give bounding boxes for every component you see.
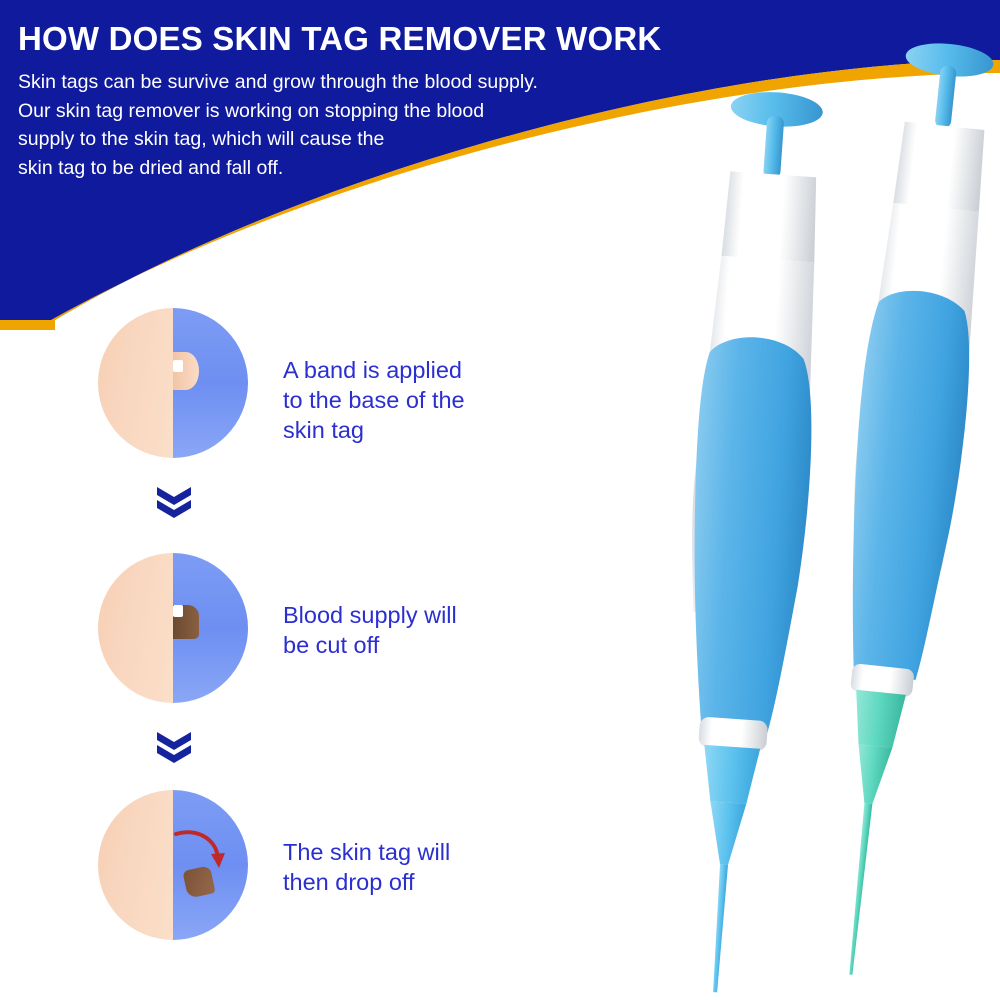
device-grip [832,286,978,682]
chevron-down-icon [155,730,193,770]
skin-half [98,790,173,940]
plunger-rod [934,65,956,128]
step-1-caption-line-1: A band is applied [283,356,465,386]
device-tip-base [700,745,760,805]
step-3-caption-line-2: then drop off [283,868,450,898]
removal-band [173,605,183,617]
step-2-illustration [98,553,248,703]
step-3-caption: The skin tag will then drop off [283,838,450,898]
chevron-down-icon [155,485,193,525]
device-needle [711,864,728,992]
device-tip-base [851,690,906,749]
step-2-caption-line-1: Blood supply will [283,601,457,631]
poster-root: HOW DOES SKIN TAG REMOVER WORK Skin tags… [0,0,1000,1000]
step-2-caption: Blood supply will be cut off [283,601,457,661]
device-right [801,39,1000,981]
step-2-caption-line-2: be cut off [283,631,457,661]
device-barrel-top [721,171,820,262]
device-tip-cone [852,744,892,805]
device-tip-cone [706,801,746,865]
device-barrel-top [893,121,987,212]
skin-half [98,553,173,703]
device-grip [677,334,819,735]
step-3-caption-line-1: The skin tag will [283,838,450,868]
removal-band [173,360,183,372]
product-photo-skin-tag-removers [520,0,1000,1000]
skin-half [98,308,173,458]
step-1-caption-line-2: to the base of the [283,386,465,416]
drop-off-arrow-icon [170,828,230,878]
step-1-illustration [98,308,248,458]
step-3-illustration [98,790,248,940]
device-left [659,88,837,996]
step-1-caption-line-3: skin tag [283,416,465,446]
device-needle [846,803,872,975]
step-1-caption: A band is applied to the base of the ski… [283,356,465,446]
